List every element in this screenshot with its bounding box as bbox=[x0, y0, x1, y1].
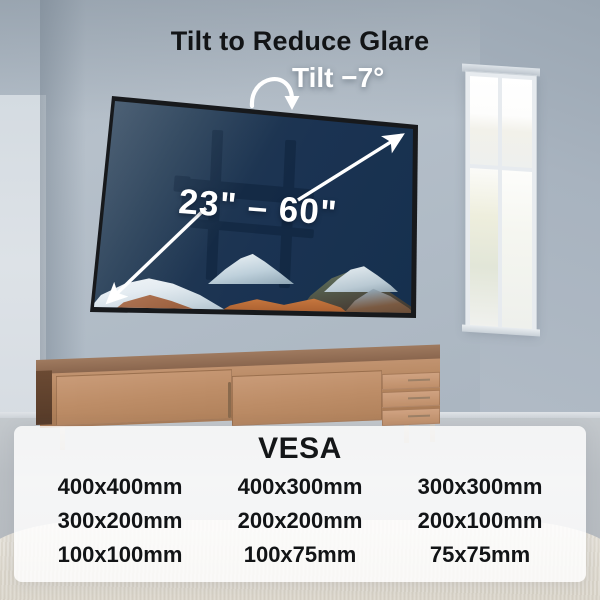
window-pane bbox=[470, 76, 498, 166]
vesa-pattern: 300x200mm bbox=[30, 508, 210, 534]
product-infographic: 23" – 60" Tilt to Reduce Glare Tilt −7° … bbox=[0, 0, 600, 600]
vesa-panel: VESA 400x400mm 400x300mm 300x300mm 300x2… bbox=[14, 426, 586, 582]
wall-mounted-tv: 23" – 60" bbox=[86, 92, 418, 320]
vesa-pattern: 75x75mm bbox=[390, 542, 570, 568]
tilt-angle-label: Tilt −7° bbox=[292, 62, 384, 94]
vesa-title: VESA bbox=[14, 432, 586, 466]
sideboard-door bbox=[56, 369, 232, 426]
vesa-pattern: 100x100mm bbox=[30, 542, 210, 568]
sideboard-door bbox=[232, 370, 382, 426]
sideboard-door-handle bbox=[228, 382, 231, 418]
vesa-pattern: 100x75mm bbox=[210, 542, 390, 568]
window-pane bbox=[502, 78, 532, 168]
window-pane bbox=[470, 168, 498, 328]
vesa-pattern: 200x200mm bbox=[210, 508, 390, 534]
vesa-pattern: 400x400mm bbox=[30, 474, 210, 500]
vesa-pattern-grid: 400x400mm 400x300mm 300x300mm 300x200mm … bbox=[30, 474, 570, 568]
window bbox=[465, 71, 537, 336]
page-title: Tilt to Reduce Glare bbox=[0, 26, 600, 57]
vesa-pattern: 300x300mm bbox=[390, 474, 570, 500]
vesa-pattern: 200x100mm bbox=[390, 508, 570, 534]
sideboard-side-panel bbox=[36, 370, 52, 425]
vesa-pattern: 400x300mm bbox=[210, 474, 390, 500]
window-pane bbox=[502, 170, 532, 330]
